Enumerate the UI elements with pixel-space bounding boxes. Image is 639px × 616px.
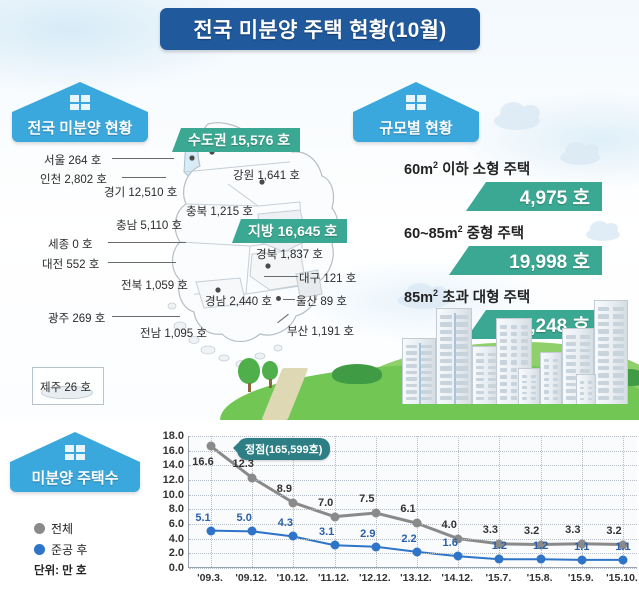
chart-x-tick: '15.8. — [527, 572, 553, 584]
gridline-horizontal — [189, 465, 637, 466]
chart-plot-area: 16.612.38.97.07.56.14.03.33.23.33.25.15.… — [188, 436, 637, 568]
house-roof-icon — [12, 82, 148, 112]
size-medium-base: 60~85m — [404, 226, 458, 242]
unsold-housing-chart: 0.02.04.06.08.010.012.014.016.018.0 16.6… — [150, 428, 639, 610]
building — [402, 338, 436, 404]
size-small-rest: 이하 소형 주택 — [438, 162, 530, 178]
data-label: 1.6 — [443, 537, 458, 549]
chart-y-tick: 0.0 — [169, 562, 184, 574]
house-window-icon — [406, 95, 426, 110]
legend-dot-post-icon — [34, 544, 45, 555]
ribbon-capital-region: 수도권 15,576 호 — [172, 128, 300, 152]
map-label-chungbuk: 충북 1,215 호 — [186, 203, 253, 219]
leader-line-gwangju — [112, 316, 180, 317]
data-label: 3.2 — [524, 525, 539, 537]
data-point — [330, 512, 339, 521]
data-label: 1.1 — [615, 541, 630, 553]
map-label-jeju: 제주 26 호 — [40, 379, 91, 395]
section-header-chart-label: 미분양 주택수 — [10, 462, 140, 492]
data-label: 1.2 — [492, 540, 507, 552]
data-label: 1.1 — [574, 541, 589, 553]
chart-y-tick: 4.0 — [169, 533, 184, 545]
map-label-ulsan: 울산 89 호 — [296, 293, 347, 309]
chart-x-tick: '13.12. — [400, 572, 432, 584]
data-label: 5.0 — [237, 512, 252, 524]
size-row-small-value: 4,975 호 — [466, 182, 602, 211]
data-point — [371, 509, 380, 518]
building — [518, 368, 540, 404]
section-header-nationwide: 전국 미분양 현황 — [12, 82, 148, 142]
data-point — [248, 527, 257, 536]
chart-y-tick: 14.0 — [163, 459, 184, 471]
leader-line-sejong — [108, 242, 186, 243]
map-label-daejeon: 대전 552 호 — [42, 256, 99, 272]
infographic-root: 전국 미분양 주택 현황(10월) 전국 미분양 현황 규모별 현황 — [0, 0, 639, 616]
section-header-chart: 미분양 주택수 — [10, 432, 140, 492]
data-label: 3.1 — [319, 526, 334, 538]
data-point — [619, 555, 628, 564]
data-label: 2.9 — [360, 528, 375, 540]
tree-icon — [238, 358, 260, 392]
size-row-small: 60m2 이하 소형 주택 4,975 호 — [404, 158, 602, 211]
legend-unit: 단위: 만 호 — [34, 562, 87, 578]
gridline-horizontal — [189, 480, 637, 481]
map-label-jeonbuk: 전북 1,059 호 — [121, 277, 188, 293]
chart-x-tick: '11.12. — [318, 572, 349, 584]
size-row-medium-value: 19,998 호 — [449, 246, 602, 275]
map-label-gyeonggi: 경기 12,510 호 — [104, 184, 177, 200]
size-small-base: 60m — [404, 162, 433, 178]
chart-y-tick: 16.0 — [163, 445, 184, 457]
legend-dot-total-icon — [34, 523, 45, 534]
data-label: 3.3 — [565, 524, 580, 536]
size-row-medium: 60~85m2 중형 주택 19,998 호 — [404, 222, 602, 275]
data-point — [536, 555, 545, 564]
data-point — [413, 547, 422, 556]
chart-x-tick: '15.9. — [568, 572, 594, 584]
page-title-banner: 전국 미분양 주택 현황(10월) — [160, 8, 480, 50]
data-label: 8.9 — [277, 483, 292, 495]
data-point — [330, 541, 339, 550]
house-window-icon — [70, 95, 90, 110]
map-label-sejong: 세종 0 호 — [48, 236, 93, 252]
chart-x-axis-labels: '09.3.'09.12.'10.12.'11.12.'12.12.'13.12… — [188, 572, 637, 590]
data-point — [454, 552, 463, 561]
map-label-daegu: 대구 121 호 — [299, 270, 356, 286]
size-row-medium-title: 60~85m2 중형 주택 — [404, 222, 602, 243]
leader-line-seoul — [112, 158, 174, 159]
chart-y-tick: 2.0 — [169, 547, 184, 559]
legend-label-total: 전체 — [51, 520, 73, 537]
house-window-icon — [65, 445, 85, 460]
house-roof-icon — [353, 82, 479, 112]
data-label: 1.2 — [533, 540, 548, 552]
data-point — [207, 442, 216, 451]
chart-x-tick: '15.7. — [485, 572, 511, 584]
data-label: 4.0 — [442, 519, 457, 531]
building — [576, 374, 596, 404]
map-label-gwangju: 광주 269 호 — [48, 310, 105, 326]
gridline-horizontal — [189, 568, 637, 569]
chart-x-tick: '14.12. — [441, 572, 473, 584]
data-label: 7.5 — [359, 493, 374, 505]
map-label-gangwon: 강원 1,641 호 — [233, 167, 300, 183]
cloud-icon — [494, 112, 540, 130]
legend-item-total: 전체 — [34, 520, 87, 537]
data-label: 3.2 — [606, 525, 621, 537]
map-label-chungnam: 충남 5,110 호 — [116, 217, 182, 233]
tree-icon — [262, 361, 278, 388]
leader-line-ulsan — [283, 299, 295, 300]
chart-legend: 전체 준공 후 단위: 만 호 — [34, 520, 87, 578]
building — [540, 352, 562, 404]
data-point — [289, 532, 298, 541]
section-header-nationwide-label: 전국 미분양 현황 — [12, 112, 148, 142]
data-point — [248, 473, 257, 482]
chart-x-tick: '09.3. — [197, 572, 223, 584]
gridline-vertical — [458, 436, 459, 567]
chart-x-tick: '10.12. — [277, 572, 309, 584]
legend-label-post-completion: 준공 후 — [51, 541, 87, 558]
chart-x-tick: '15.10. — [606, 572, 638, 584]
chart-y-axis-labels: 0.02.04.06.08.010.012.014.016.018.0 — [150, 436, 184, 568]
chart-x-tick: '09.12. — [235, 572, 267, 584]
data-point — [577, 555, 586, 564]
gridline-horizontal — [189, 436, 637, 437]
chart-y-tick: 6.0 — [169, 518, 184, 530]
data-label: 3.3 — [483, 524, 498, 536]
chart-y-tick: 12.0 — [163, 474, 184, 486]
data-label: 7.0 — [318, 497, 333, 509]
data-point — [413, 519, 422, 528]
data-point — [207, 526, 216, 535]
data-label: 5.1 — [195, 512, 210, 524]
legend-item-post-completion: 준공 후 — [34, 541, 87, 558]
peak-annotation: 정점(165,599호) — [237, 438, 330, 460]
data-label: 2.2 — [401, 533, 416, 545]
leader-line-daejeon — [108, 262, 176, 263]
map-label-seoul: 서울 264 호 — [44, 152, 101, 168]
chart-y-tick: 8.0 — [169, 503, 184, 515]
map-label-incheon: 인천 2,802 호 — [40, 171, 107, 187]
gridline-horizontal — [189, 495, 637, 496]
page-title: 전국 미분양 주택 현황(10월) — [193, 14, 446, 44]
chart-y-tick: 10.0 — [163, 489, 184, 501]
data-point — [495, 555, 504, 564]
size-medium-rest: 중형 주택 — [463, 226, 524, 242]
size-row-small-title: 60m2 이하 소형 주택 — [404, 158, 602, 179]
map-label-gyeongnam: 경남 2,440 호 — [205, 293, 272, 309]
leader-line-incheon — [122, 177, 166, 178]
chart-x-tick: '12.12. — [359, 572, 391, 584]
data-label: 16.6 — [192, 456, 213, 468]
chart-y-tick: 18.0 — [163, 430, 184, 442]
data-label: 6.1 — [400, 503, 415, 515]
peak-annotation-pointer — [228, 443, 238, 453]
map-dot-ulsan — [276, 296, 281, 301]
map-label-gyeongbuk: 경북 1,837 호 — [256, 246, 323, 262]
map-label-busan: 부산 1,191 호 — [287, 323, 354, 339]
leader-line-daegu — [264, 276, 298, 277]
bush-icon — [332, 364, 382, 384]
house-roof-icon — [10, 432, 140, 462]
building — [594, 300, 628, 404]
data-point — [289, 498, 298, 507]
data-point — [371, 542, 380, 551]
apartment-buildings-illustration — [398, 292, 638, 404]
building — [436, 308, 472, 404]
ribbon-local-region: 지방 16,645 호 — [232, 219, 347, 243]
data-label: 4.3 — [278, 517, 293, 529]
